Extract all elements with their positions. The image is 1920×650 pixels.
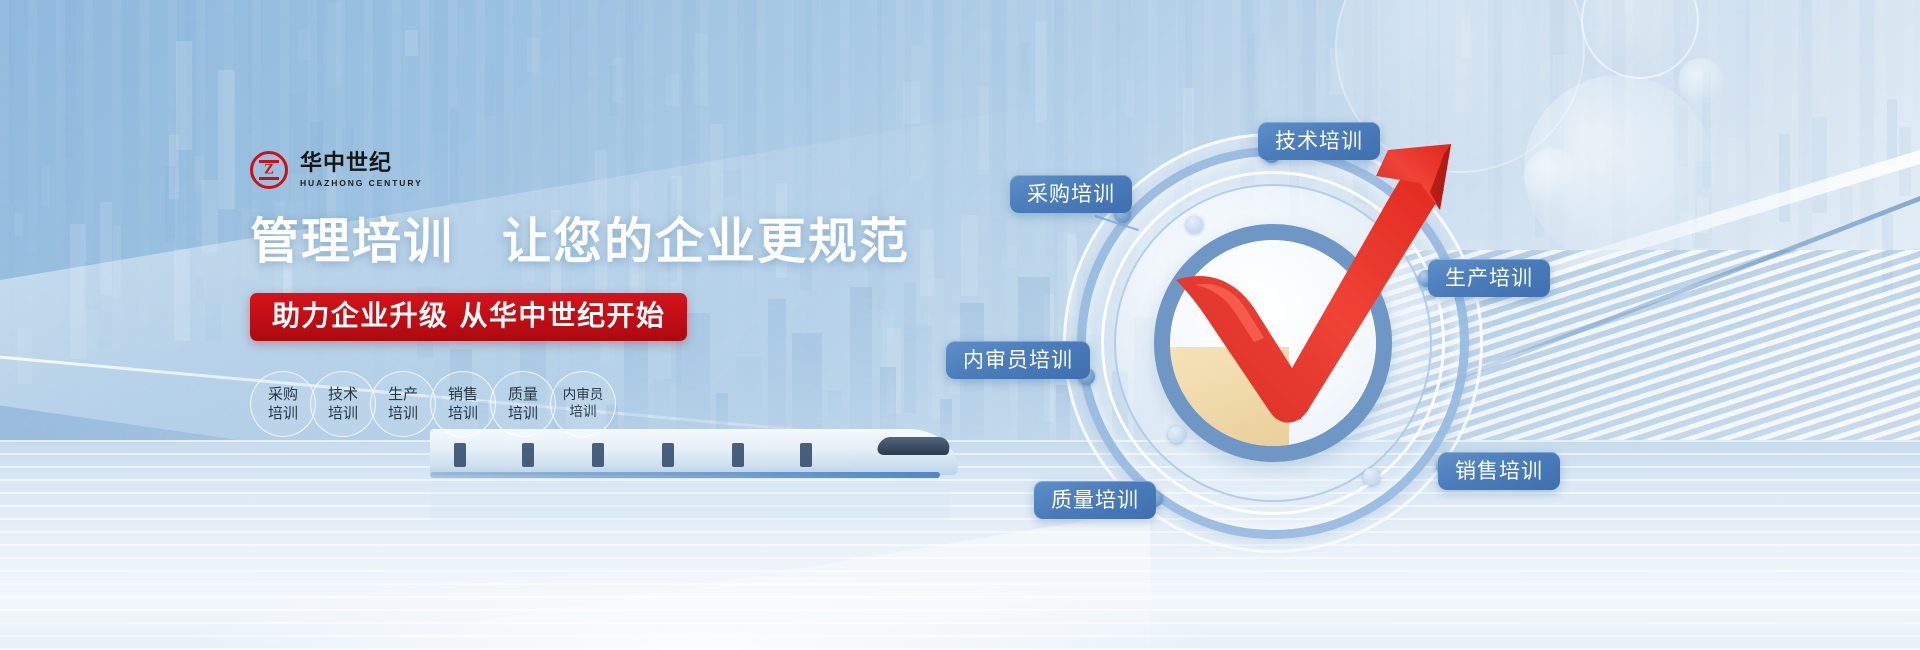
course-circle-line1: 质量 bbox=[508, 385, 538, 404]
huazhong-circle-z-logo-icon: Z bbox=[250, 151, 288, 189]
floor-diagonal-sheen bbox=[250, 510, 1150, 650]
course-circle-4[interactable]: 质量培训 bbox=[490, 371, 556, 437]
promo-ribbon-text: 助力企业升级 从华中世纪开始 bbox=[272, 299, 665, 332]
course-circle-line2: 培训 bbox=[508, 404, 538, 423]
course-circle-0[interactable]: 采购培训 bbox=[250, 371, 316, 437]
diagram-tag-jishu-label: 技术培训 bbox=[1275, 131, 1363, 152]
course-circle-2[interactable]: 生产培训 bbox=[370, 371, 436, 437]
diagram-tag-caigou[interactable]: 采购培训 bbox=[1010, 175, 1132, 213]
promo-ribbon: 助力企业升级 从华中世纪开始 bbox=[250, 293, 687, 341]
diagram-tag-jishu[interactable]: 技术培训 bbox=[1258, 122, 1380, 160]
bokeh-dot-small bbox=[1678, 58, 1724, 104]
course-circle-line1: 生产 bbox=[388, 385, 418, 404]
brand-name-en: HUAZHONG CENTURY bbox=[300, 179, 423, 188]
course-circle-line1: 采购 bbox=[268, 385, 298, 404]
headline-sub: 让您的企业更规范 bbox=[502, 216, 910, 269]
course-circle-5[interactable]: 内审员培训 bbox=[550, 371, 616, 437]
page-title: 管理培训 让您的企业更规范 bbox=[250, 216, 890, 269]
course-circle-3[interactable]: 销售培训 bbox=[430, 371, 496, 437]
course-circle-list: 采购培训技术培训生产培训销售培训质量培训内审员培训 bbox=[250, 371, 890, 437]
course-circle-line2: 培训 bbox=[328, 404, 358, 423]
diagram-tag-shengchan[interactable]: 生产培训 bbox=[1428, 259, 1550, 297]
bokeh-dot-large bbox=[1524, 75, 1714, 265]
diagram-tag-zhiliang[interactable]: 质量培训 bbox=[1034, 481, 1156, 519]
training-banner: Z 华中世纪 HUAZHONG CENTURY 管理培训 让您的企业更规范 助力… bbox=[0, 0, 1920, 650]
course-circle-1[interactable]: 技术培训 bbox=[310, 371, 376, 437]
diagram-tag-neishenyuan[interactable]: 内审员培训 bbox=[946, 341, 1090, 379]
diagram-tag-zhiliang-label: 质量培训 bbox=[1051, 490, 1139, 511]
diagram-tag-xiaoshou[interactable]: 销售培训 bbox=[1438, 452, 1560, 490]
diagram-tag-caigou-label: 采购培训 bbox=[1027, 184, 1115, 205]
course-circle-line1: 内审员 bbox=[563, 387, 604, 404]
course-circle-line1: 销售 bbox=[448, 385, 478, 404]
floor-stripe-lines bbox=[0, 440, 1920, 650]
brand-name-cn: 华中世纪 bbox=[300, 153, 423, 175]
diagram-tag-neishenyuan-label: 内审员培训 bbox=[963, 350, 1073, 371]
brand-logo[interactable]: Z 华中世纪 HUAZHONG CENTURY bbox=[250, 150, 890, 190]
diagram-tag-xiaoshou-label: 销售培训 bbox=[1455, 461, 1543, 482]
floor-glow bbox=[0, 520, 1920, 650]
headline-main: 管理培训 bbox=[250, 216, 454, 269]
course-circle-line2: 培训 bbox=[448, 404, 478, 423]
course-circle-line2: 培训 bbox=[570, 404, 597, 421]
course-circle-line2: 培训 bbox=[268, 404, 298, 423]
diagram-tag-shengchan-label: 生产培训 bbox=[1445, 268, 1533, 289]
reflective-floor bbox=[0, 440, 1920, 650]
lens-flare-circles-icon bbox=[1581, 0, 1699, 79]
hero-text-column: Z 华中世纪 HUAZHONG CENTURY 管理培训 让您的企业更规范 助力… bbox=[250, 150, 890, 437]
bokeh-dot-mid bbox=[1524, 148, 1580, 204]
course-circle-line1: 技术 bbox=[328, 385, 358, 404]
course-circle-line2: 培训 bbox=[388, 404, 418, 423]
